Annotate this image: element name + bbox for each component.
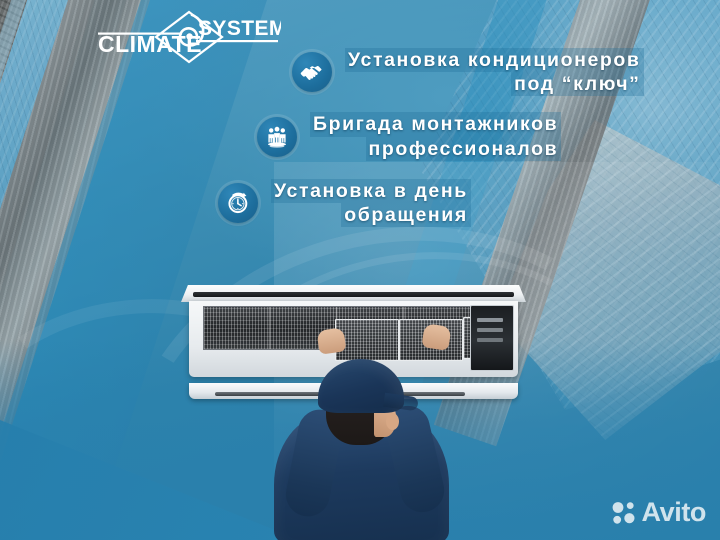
feature-line-1: Установка кондиционеров [345,48,644,72]
ac-control-panel [470,305,514,371]
feature-line-1: Установка в день [271,179,471,203]
feature-text: Установка в день обращения [271,179,471,227]
handshake-icon [292,52,332,92]
feature-line-2: профессионалов [366,137,562,161]
feature-item-turnkey-installation: Установка кондиционеров под “ключ” [292,48,690,96]
clock-arrow-icon [218,183,258,223]
feature-text: Установка кондиционеров под “ключ” [345,48,644,96]
feature-line-2: обращения [341,203,471,227]
technician-hand-right [421,323,451,351]
technician-hand-left [316,327,346,355]
feature-line-2: под “ключ” [511,72,643,96]
ac-top-cover [181,285,526,302]
feature-list: Установка кондиционеров под “ключ” Бриг [0,48,690,241]
logo-word-systems: SYSTEMS [198,17,281,40]
avito-dots-icon [611,500,637,526]
group-of-people-icon [257,117,297,157]
avito-watermark: Avito [611,499,707,526]
technician-cap [318,359,404,413]
advertisement-banner: CLIMATE SYSTEMS Установка кондиционеров … [0,0,720,540]
logo-rule-bottom [196,40,278,42]
avito-wordmark: Avito [642,499,707,526]
feature-text: Бригада монтажников профессионалов [310,112,561,160]
logo-rule-top [98,33,182,35]
feature-item-same-day-installation: Установка в день обращения [218,179,690,227]
technician-cap-brim [383,393,419,412]
feature-line-1: Бригада монтажников [310,112,561,136]
technician-ear [386,413,399,430]
ac-top-vent [193,292,514,297]
technician-figure [246,355,476,540]
feature-item-professional-crew: Бригада монтажников профессионалов [257,112,690,160]
